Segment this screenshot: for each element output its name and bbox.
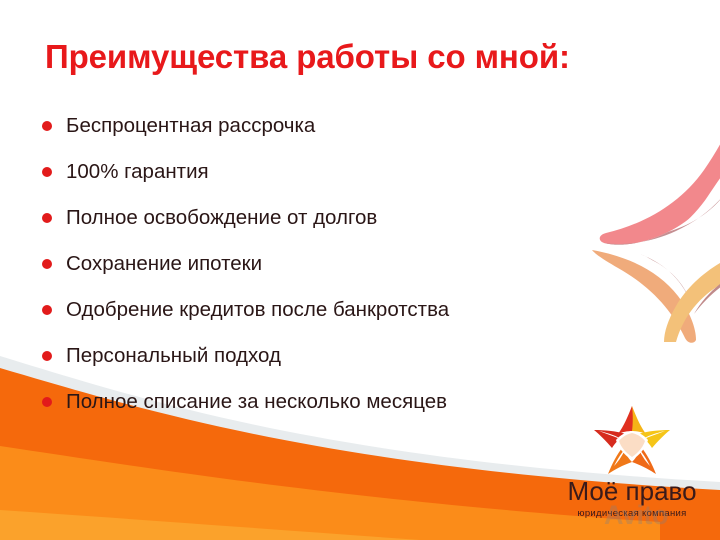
- list-item-label: 100% гарантия: [66, 162, 209, 183]
- promo-slide: Преимущества работы со мной: Беспроцентн…: [0, 0, 720, 540]
- logo-company-name: Моё право: [552, 478, 712, 505]
- logo-tagline: юридическая компания: [552, 508, 712, 519]
- bullet-dot-icon: [42, 121, 52, 131]
- list-item: Полное списание за несколько месяцев: [42, 379, 449, 425]
- list-item-label: Полное списание за несколько месяцев: [66, 392, 447, 413]
- list-item: Беспроцентная рассрочка: [42, 103, 449, 149]
- list-item-label: Беспроцентная рассрочка: [66, 116, 315, 137]
- list-item-label: Сохранение ипотеки: [66, 254, 262, 275]
- list-item: Сохранение ипотеки: [42, 241, 449, 287]
- list-item: Полное освобождение от долгов: [42, 195, 449, 241]
- list-item-label: Одобрение кредитов после банкротства: [66, 300, 449, 321]
- list-item: Одобрение кредитов после банкротства: [42, 287, 449, 333]
- company-logo: Моё право юридическая компания: [552, 404, 712, 519]
- bullet-dot-icon: [42, 351, 52, 361]
- bullet-dot-icon: [42, 213, 52, 223]
- list-item: 100% гарантия: [42, 149, 449, 195]
- list-item: Персональный подход: [42, 333, 449, 379]
- bullet-dot-icon: [42, 167, 52, 177]
- list-item-label: Полное освобождение от долгов: [66, 208, 377, 229]
- bullet-dot-icon: [42, 305, 52, 315]
- list-item-label: Персональный подход: [66, 346, 281, 367]
- bullet-dot-icon: [42, 259, 52, 269]
- page-title: Преимущества работы со мной:: [45, 38, 570, 76]
- star-icon: [590, 404, 674, 476]
- bullet-dot-icon: [42, 397, 52, 407]
- benefits-list: Беспроцентная рассрочка 100% гарантия По…: [42, 103, 449, 425]
- faded-star-icon: [548, 104, 720, 344]
